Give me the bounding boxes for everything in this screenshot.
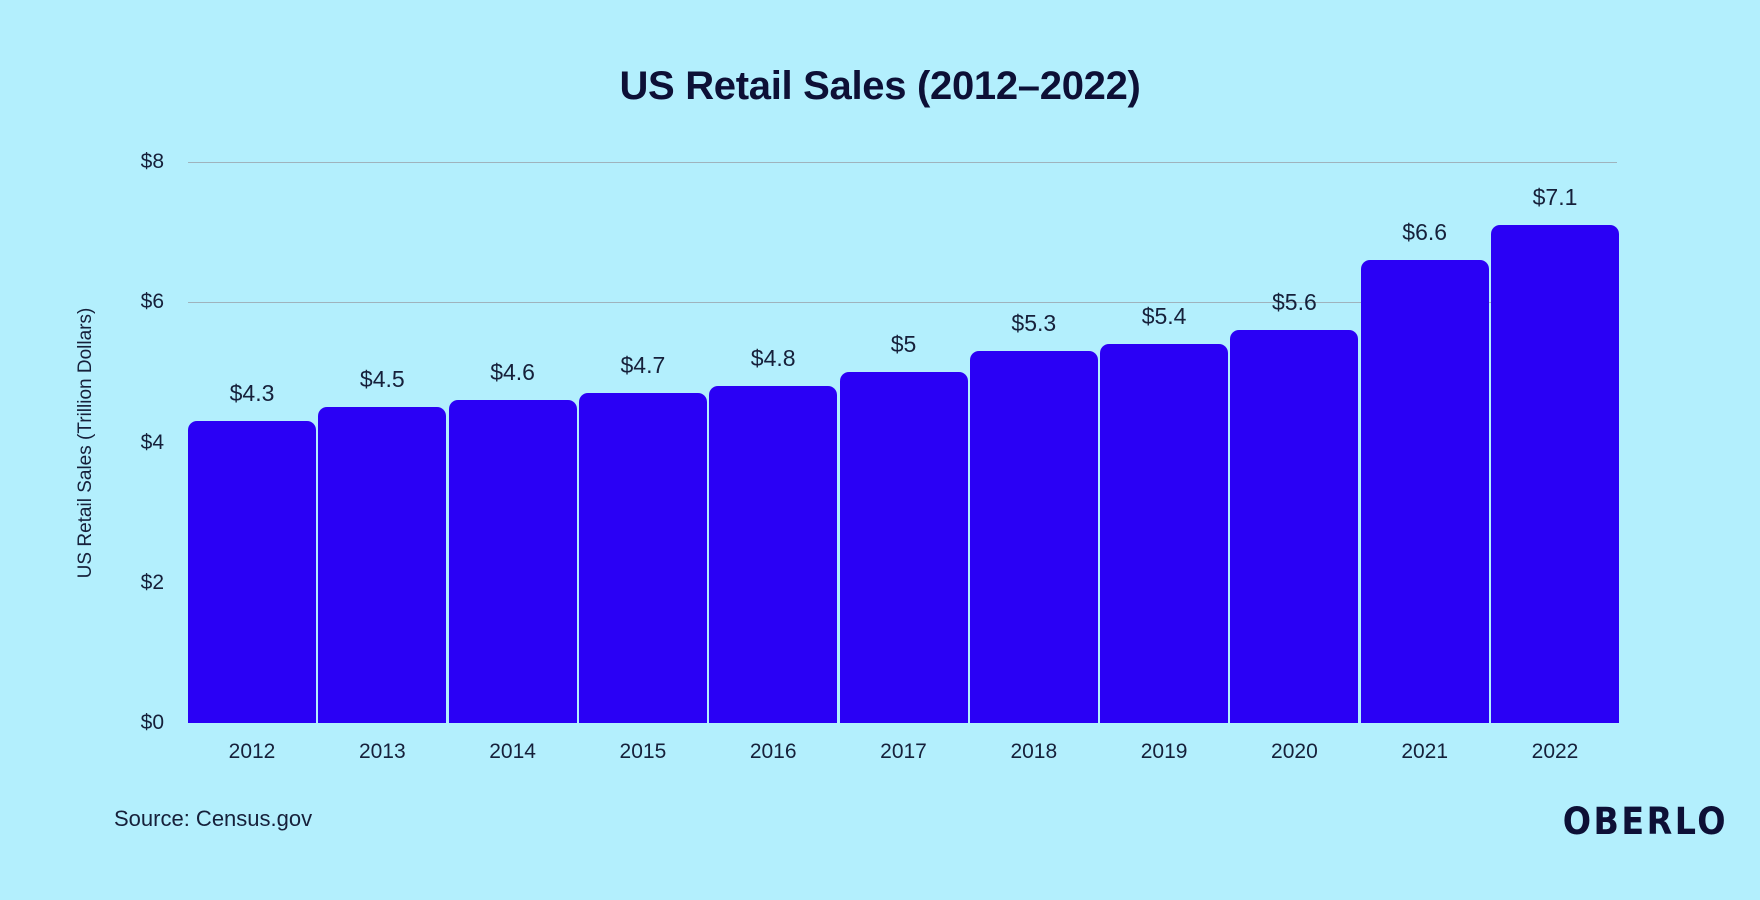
y-axis-tick-label: $2 [104,571,164,595]
bar[interactable] [188,421,316,723]
bar-value-label: $4.3 [188,380,316,407]
infographic-canvas: US Retail Sales (2012–2022) US Retail Sa… [0,0,1760,900]
bar-value-label: $5.4 [1100,303,1228,330]
bar-value-label: $4.7 [579,352,707,379]
bar-value-label: $5 [840,331,968,358]
bar-slot[interactable]: $4.7 [579,162,707,723]
bar-value-label: $4.6 [449,359,577,386]
y-axis-tick-label: $0 [104,711,164,735]
bar-slot[interactable]: $5.4 [1100,162,1228,723]
bar-value-label: $4.5 [318,366,446,393]
bar-slot[interactable]: $7.1 [1491,162,1619,723]
x-axis-tick-label: 2017 [840,740,968,764]
y-axis-tick-label: $4 [104,431,164,455]
x-axis-tick-label: 2021 [1361,740,1489,764]
bar-value-label: $4.8 [709,345,837,372]
bar[interactable] [318,407,446,723]
bar-value-label: $5.3 [970,310,1098,337]
bar-slot[interactable]: $4.6 [449,162,577,723]
bar-slot[interactable]: $4.5 [318,162,446,723]
x-axis-tick-label: 2020 [1230,740,1358,764]
bar-slot[interactable]: $4.3 [188,162,316,723]
bar-value-label: $6.6 [1361,219,1489,246]
bar[interactable] [1491,225,1619,723]
y-axis-tick-label: $6 [104,290,164,314]
x-axis-tick-label: 2022 [1491,740,1619,764]
bar[interactable] [970,351,1098,723]
bar-slot[interactable]: $4.8 [709,162,837,723]
x-axis-tick-label: 2013 [318,740,446,764]
bar[interactable] [579,393,707,723]
x-axis-tick-label: 2014 [449,740,577,764]
plot-area: $4.3$4.5$4.6$4.7$4.8$5$5.3$5.4$5.6$6.6$7… [188,162,1617,723]
source-note: Source: Census.gov [114,806,312,832]
bar-slot[interactable]: $5 [840,162,968,723]
x-axis-tick-label: 2016 [709,740,837,764]
bar[interactable] [1361,260,1489,723]
page-title: US Retail Sales (2012–2022) [0,62,1760,110]
bar-value-label: $7.1 [1491,184,1619,211]
bar[interactable] [709,386,837,723]
x-axis-tick-label: 2019 [1100,740,1228,764]
bar-slot[interactable]: $6.6 [1361,162,1489,723]
y-axis-tick-label: $8 [104,150,164,174]
bar-slot[interactable]: $5.6 [1230,162,1358,723]
bar-value-label: $5.6 [1230,289,1358,316]
bar-slot[interactable]: $5.3 [970,162,1098,723]
y-axis-title: US Retail Sales (Trillion Dollars) [75,308,97,579]
bar[interactable] [1100,344,1228,723]
x-axis-tick-label: 2012 [188,740,316,764]
x-axis-tick-label: 2018 [970,740,1098,764]
bar[interactable] [449,400,577,723]
bar[interactable] [1230,330,1358,723]
x-axis-tick-label: 2015 [579,740,707,764]
oberlo-logo: OBERLO [1563,800,1728,843]
bar[interactable] [840,372,968,723]
